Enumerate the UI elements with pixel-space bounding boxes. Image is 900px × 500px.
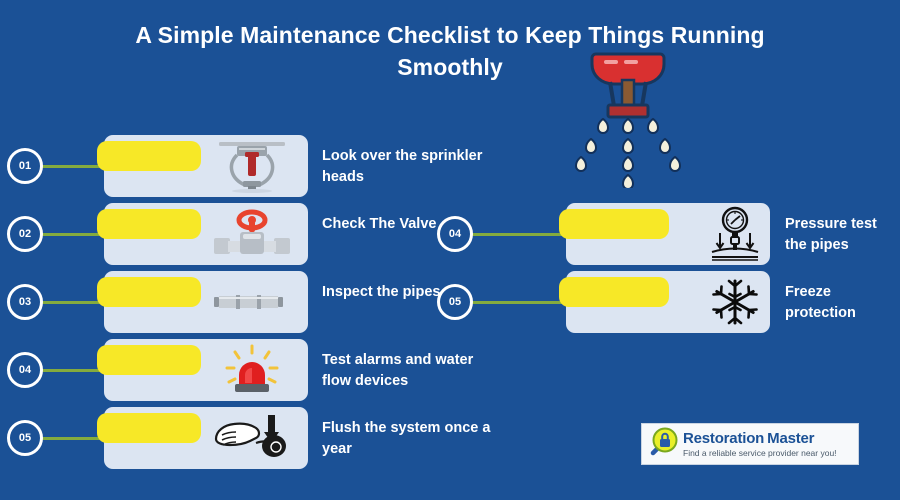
step-label: Freeze protection [785, 282, 900, 323]
highlight-bar [559, 277, 669, 307]
connector-line [42, 165, 104, 168]
pipe-section-icon [200, 273, 304, 331]
highlight-bar [97, 141, 201, 171]
logo-name-part2: Master [767, 430, 814, 447]
step-label: Flush the system once a year [322, 418, 492, 459]
logo-tagline: Find a reliable service provider near yo… [683, 448, 837, 458]
step-number-badge: 03 [7, 284, 43, 320]
alarm-beacon-icon [200, 341, 304, 399]
step-number-badge: 05 [7, 420, 43, 456]
step-label: Test alarms and water flow devices [322, 350, 492, 391]
connector-line [42, 301, 104, 304]
highlight-bar [97, 345, 201, 375]
checklist-step[interactable]: 01 Look over the sprinkler heads [0, 135, 500, 197]
highlight-bar [97, 277, 201, 307]
connector-line [42, 233, 104, 236]
highlight-bar [97, 413, 201, 443]
hand-turning-valve-icon [200, 409, 304, 467]
gate-valve-icon [200, 205, 304, 263]
checklist-step[interactable]: 04 Test alarms and water flow devices [0, 339, 500, 401]
logo-name-part1: Restoration [683, 430, 764, 447]
step-label: Look over the sprinkler heads [322, 146, 492, 187]
connector-line [42, 369, 104, 372]
fire-sprinkler-spraying-icon [568, 48, 688, 188]
checklist-step[interactable]: 05 Flush the system once a year [0, 407, 500, 469]
pressure-gauge-icon [700, 205, 770, 263]
step-number-badge: 04 [437, 216, 473, 252]
snowflake-icon [700, 273, 770, 331]
step-number-badge: 05 [437, 284, 473, 320]
step-number-badge: 02 [7, 216, 43, 252]
magnifier-lock-icon [646, 425, 680, 464]
sprinkler-head-icon [200, 137, 304, 195]
step-label: Pressure test the pipes [785, 214, 900, 255]
highlight-bar [97, 209, 201, 239]
highlight-bar [559, 209, 669, 239]
connector-line [42, 437, 104, 440]
restoration-master-logo[interactable]: RestorationMaster Find a reliable servic… [641, 423, 859, 465]
step-number-badge: 04 [7, 352, 43, 388]
step-number-badge: 01 [7, 148, 43, 184]
